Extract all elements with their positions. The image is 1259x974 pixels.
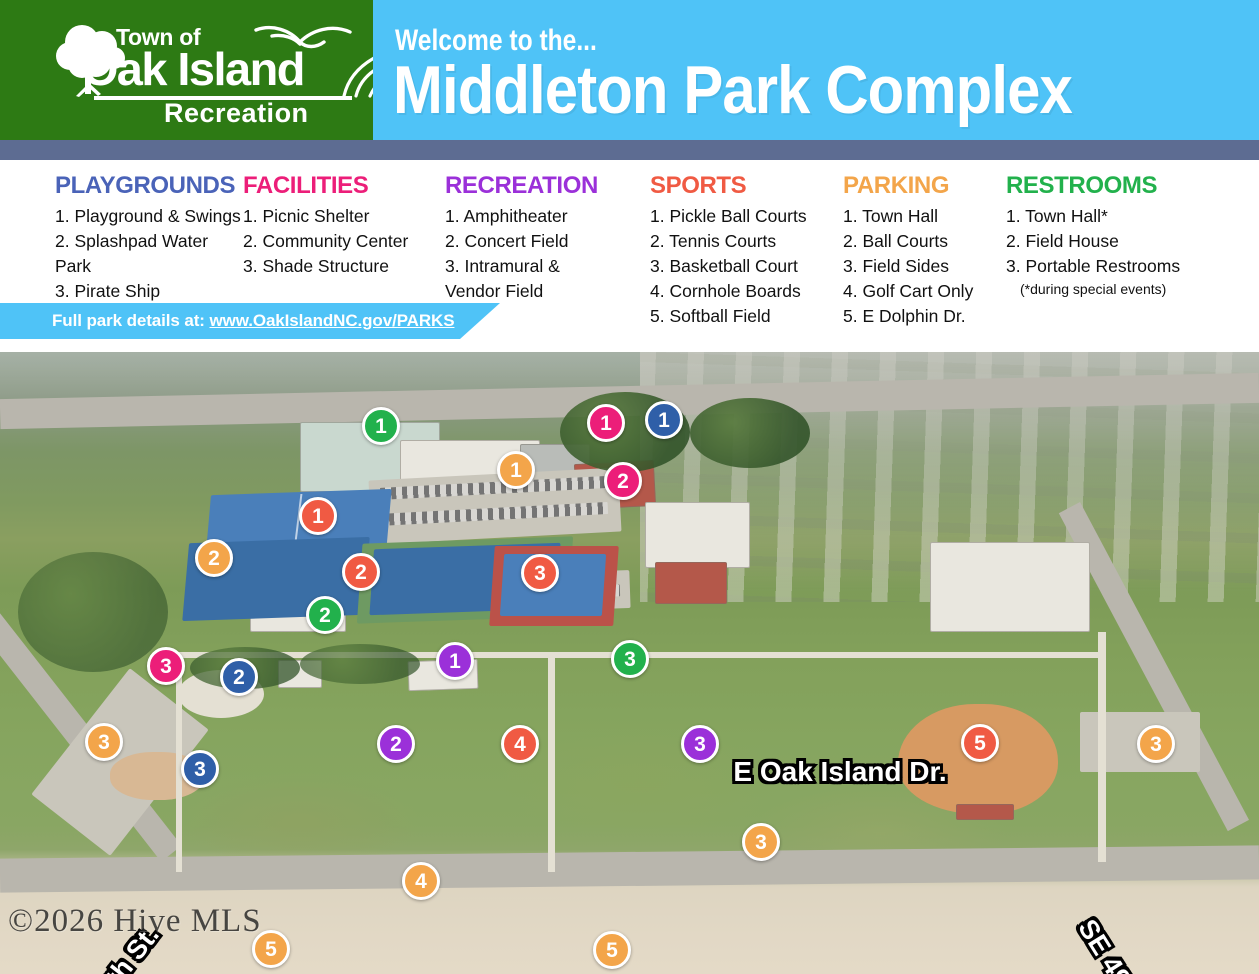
legend-item: 1. Pickle Ball Courts [650,204,843,229]
map-marker-facilities-2[interactable]: 2 [604,462,642,500]
map-marker-playgrounds-2[interactable]: 2 [220,658,258,696]
legend-column-restrooms: RESTROOMS 1. Town Hall* 2. Field House 3… [1006,172,1236,329]
map-marker-restrooms-2[interactable]: 2 [306,596,344,634]
park-details-prefix: Full park details at: [52,311,209,330]
legend-item: 5. E Dolphin Dr. [843,304,1006,329]
map-marker-playgrounds-3[interactable]: 3 [147,647,185,685]
page-title: Middleton Park Complex [393,56,1072,124]
legend-title-facilities: FACILITIES [243,172,445,200]
map-marker-parking-5[interactable]: 5 [593,931,631,969]
town-logo-panel: Town of Oak Island Recreation [0,0,373,140]
legend-item: 1. Town Hall* [1006,204,1236,229]
map-marker-recreation-2[interactable]: 2 [377,725,415,763]
map-marker-parking-4[interactable]: 4 [402,862,440,900]
legend-item: 2. Ball Courts [843,229,1006,254]
building-warehouse [645,502,750,568]
map-marker-facilities-1[interactable]: 1 [587,404,625,442]
legend-item: 5. Softball Field [650,304,843,329]
aerial-park-map[interactable]: E Oak Island Dr. SE 46th St. SE 49th St.… [0,352,1259,974]
mls-watermark: ©2026 Hive MLS [8,903,262,940]
tree-cluster [690,398,810,468]
legend-item: 4. Golf Cart Only [843,279,1006,304]
field-path-east [1098,632,1106,862]
legend-footnote: (*during special events) [1006,279,1236,299]
legend-title-parking: PARKING [843,172,1006,200]
header-divider [0,140,1259,160]
legend-item: 2. Splashpad Water Park [55,229,243,279]
map-marker-restrooms-1[interactable]: 1 [362,407,400,445]
legend-item: 1. Town Hall [843,204,1006,229]
legend-title-restrooms: RESTROOMS [1006,172,1236,200]
legend-title-playgrounds: PLAYGROUNDS [55,172,243,200]
street-label-e-oak-island-dr: E Oak Island Dr. [733,756,946,788]
map-marker-sports-5[interactable]: 5 [961,724,999,762]
legend-item: 2. Field House [1006,229,1236,254]
map-marker-sports-2[interactable]: 2 [342,553,380,591]
map-marker-recreation-1[interactable]: 1 [436,642,474,680]
map-marker-sports-1[interactable]: 1 [299,497,337,535]
map-marker-sports-3[interactable]: 3 [521,554,559,592]
building-large-east [930,542,1090,632]
legend-item: 3. Intramural & Vendor Field [445,254,650,304]
legend-item: 3. Field Sides [843,254,1006,279]
map-marker-sports-4[interactable]: 4 [501,725,539,763]
softball-dugout [956,804,1014,820]
legend-item: 4. Cornhole Boards [650,279,843,304]
map-marker-parking-3[interactable]: 3 [1137,725,1175,763]
legend-item: 2. Tennis Courts [650,229,843,254]
map-marker-parking-1[interactable]: 1 [497,451,535,489]
map-marker-recreation-3[interactable]: 3 [681,725,719,763]
legend-title-recreation: RECREATION [445,172,650,200]
map-marker-parking-3[interactable]: 3 [85,723,123,761]
map-marker-parking-3[interactable]: 3 [742,823,780,861]
park-details-banner[interactable]: Full park details at: www.OakIslandNC.go… [0,303,500,339]
park-map-page: Town of Oak Island Recreation Welcome to… [0,0,1259,974]
header-title-panel: Welcome to the... Middleton Park Complex [373,0,1259,140]
park-details-text: Full park details at: www.OakIslandNC.go… [0,311,454,331]
oak-island-recreation-logo: Town of Oak Island Recreation [44,16,364,126]
logo-recreation-text: Recreation [164,98,309,129]
map-marker-playgrounds-1[interactable]: 1 [645,401,683,439]
legend-column-parking: PARKING 1. Town Hall 2. Ball Courts 3. F… [843,172,1006,329]
building-house-east [655,562,727,604]
map-marker-parking-2[interactable]: 2 [195,539,233,577]
field-path-mid [548,652,555,872]
street-label-text: E Oak Island Dr. [733,756,946,787]
legend-item: 1. Picnic Shelter [243,204,445,229]
legend-item: 3. Shade Structure [243,254,445,279]
logo-oak-island-text: Oak Island [82,46,304,92]
map-marker-playgrounds-3[interactable]: 3 [181,750,219,788]
legend-title-sports: SPORTS [650,172,843,200]
legend-item: 3. Portable Restrooms [1006,254,1236,279]
tree-cluster [18,552,168,672]
page-header: Town of Oak Island Recreation Welcome to… [0,0,1259,140]
park-details-link[interactable]: www.OakIslandNC.gov/PARKS [209,311,454,330]
legend-item: 2. Concert Field [445,229,650,254]
dunes-icon [334,48,373,102]
legend-column-sports: SPORTS 1. Pickle Ball Courts 2. Tennis C… [650,172,843,329]
legend-item: 3. Basketball Court [650,254,843,279]
legend-item: 2. Community Center [243,229,445,254]
legend-item: 1. Playground & Swings [55,204,243,229]
tree-cluster [300,644,420,684]
map-marker-restrooms-3[interactable]: 3 [611,640,649,678]
legend-item: 1. Amphitheater [445,204,650,229]
